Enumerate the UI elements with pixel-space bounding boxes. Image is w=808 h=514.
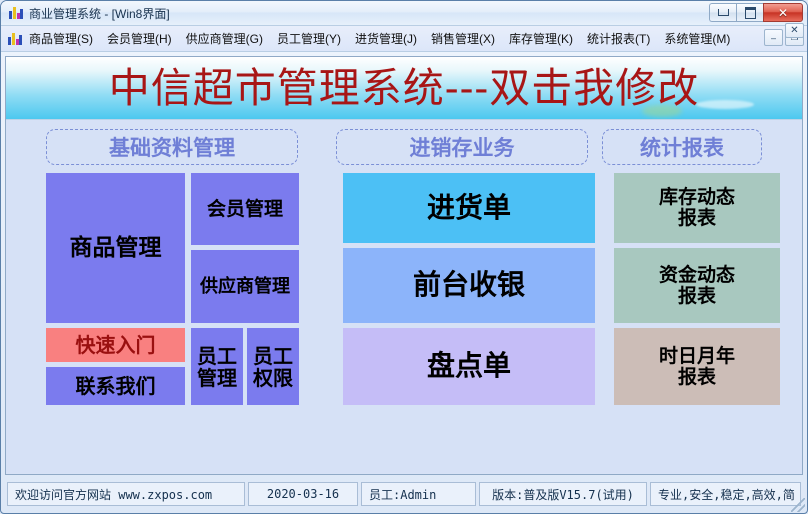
- tile-fund-dynamic-report[interactable]: 资金动态 报表: [614, 248, 780, 323]
- title-bar[interactable]: 商业管理系统 - [Win8界面] ✕: [1, 1, 807, 26]
- tile-time-period-report[interactable]: 时日月年 报表: [614, 328, 780, 405]
- tile-quick-start[interactable]: 快速入门: [46, 328, 185, 362]
- mdi-close-button[interactable]: ✕: [785, 23, 804, 38]
- menu-bar: 商品管理(S) 会员管理(H) 供应商管理(G) 员工管理(Y) 进货管理(J)…: [1, 26, 807, 52]
- menu-item-member[interactable]: 会员管理(H): [100, 27, 179, 50]
- status-date: 2020-03-16: [248, 482, 358, 506]
- maximize-button[interactable]: [736, 3, 763, 22]
- status-website: 欢迎访问官方网站 www.zxpos.com: [7, 482, 245, 506]
- menu-item-staff[interactable]: 员工管理(Y): [270, 27, 348, 50]
- group-header-reports: 统计报表: [602, 129, 762, 165]
- status-bar: 欢迎访问官方网站 www.zxpos.com 2020-03-16 员工:Adm…: [5, 479, 803, 509]
- menu-item-reports[interactable]: 统计报表(T): [580, 27, 657, 50]
- banner-title: 中信超市管理系统---双击我修改: [6, 57, 802, 120]
- close-button[interactable]: ✕: [763, 3, 803, 22]
- tile-stocktaking-order[interactable]: 盘点单: [343, 328, 595, 405]
- window-title: 商业管理系统 - [Win8界面]: [29, 5, 170, 22]
- minimize-icon: [718, 9, 729, 16]
- tile-contact-us[interactable]: 联系我们: [46, 367, 185, 405]
- status-slogan: 专业,安全,稳定,高效,简: [650, 482, 801, 506]
- tile-goods-management[interactable]: 商品管理: [46, 173, 185, 323]
- status-version: 版本:普及版V15.7(试用): [479, 482, 647, 506]
- client-area: 中信超市管理系统---双击我修改 基础资料管理 进销存业务 统计报表 商品管理 …: [5, 56, 803, 475]
- maximize-icon: [745, 7, 756, 19]
- minimize-button[interactable]: [709, 3, 736, 22]
- application-window: 商业管理系统 - [Win8界面] ✕ 商品管理(S) 会员管理(H) 供应商管…: [0, 0, 808, 514]
- menu-item-supplier[interactable]: 供应商管理(G): [179, 27, 270, 50]
- tile-staff-permission[interactable]: 员工 权限: [247, 328, 299, 405]
- tile-supplier-management[interactable]: 供应商管理: [191, 250, 299, 323]
- dashboard: 基础资料管理 进销存业务 统计报表 商品管理 会员管理 供应商管理 快速入门 联…: [6, 120, 802, 473]
- group-header-basic-data: 基础资料管理: [46, 129, 298, 165]
- group-header-inventory-business: 进销存业务: [336, 129, 588, 165]
- menu-item-purchase[interactable]: 进货管理(J): [348, 27, 424, 50]
- menu-item-sales[interactable]: 销售管理(X): [424, 27, 502, 50]
- resize-grip-icon[interactable]: [791, 498, 805, 512]
- status-user: 员工:Admin: [361, 482, 476, 506]
- tile-purchase-order[interactable]: 进货单: [343, 173, 595, 243]
- tile-stock-dynamic-report[interactable]: 库存动态 报表: [614, 173, 780, 243]
- menu-item-system[interactable]: 系统管理(M): [657, 27, 737, 50]
- menu-item-goods[interactable]: 商品管理(S): [22, 27, 100, 50]
- menu-bar-chart-icon: [7, 32, 22, 46]
- window-controls: ✕: [709, 3, 803, 22]
- tile-member-management[interactable]: 会员管理: [191, 173, 299, 245]
- bar-chart-icon: [8, 6, 23, 20]
- menu-item-stock[interactable]: 库存管理(K): [502, 27, 580, 50]
- mdi-minimize-button[interactable]: –: [764, 29, 783, 46]
- tile-staff-management[interactable]: 员工 管理: [191, 328, 243, 405]
- close-icon: ✕: [778, 6, 788, 20]
- banner[interactable]: 中信超市管理系统---双击我修改: [6, 57, 802, 120]
- tile-front-cashier[interactable]: 前台收银: [343, 248, 595, 323]
